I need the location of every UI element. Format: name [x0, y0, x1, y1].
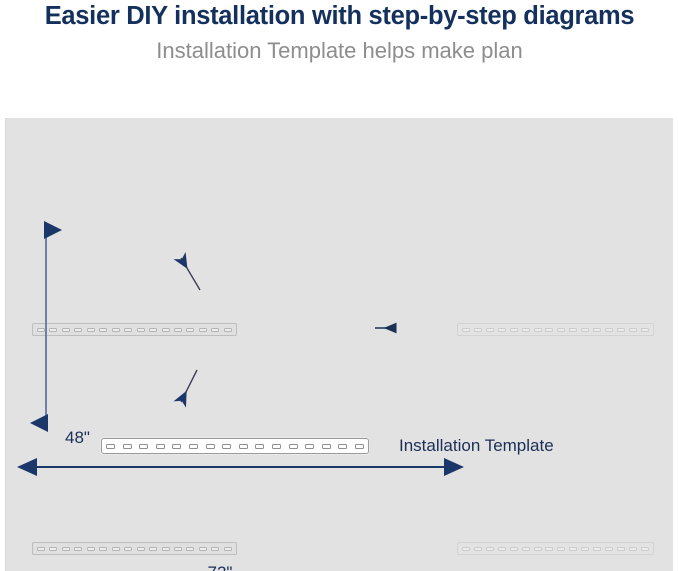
rail-slot [199, 547, 207, 551]
rail-slot [199, 328, 207, 332]
rail-slot [338, 444, 347, 449]
rail-slot [462, 547, 470, 551]
rail-slot [593, 547, 601, 551]
rail-slot [581, 547, 589, 551]
header-section: Easier DIY installation with step-by-ste… [0, 0, 679, 118]
rail-slot [224, 328, 232, 332]
rail-slot [629, 328, 637, 332]
rail-slot [186, 328, 194, 332]
rail-slot [37, 547, 45, 551]
rail-slot [605, 547, 613, 551]
rail-slot [581, 328, 589, 332]
rail-slot [156, 444, 165, 449]
template-pointer-arrow-upper [181, 258, 200, 290]
rail-slot [174, 328, 182, 332]
rail-slot [289, 444, 298, 449]
rail-slot [355, 444, 364, 449]
rail-slot [74, 547, 82, 551]
mounting-rail-bottom-left [32, 542, 237, 555]
installation-template-strip [101, 438, 369, 454]
rail-slot [137, 328, 145, 332]
rail-slot [305, 444, 314, 449]
rail-slot [641, 328, 649, 332]
rail-slot [172, 444, 181, 449]
rail-slot [498, 328, 506, 332]
rail-slot [569, 328, 577, 332]
rail-slot [37, 328, 45, 332]
rail-slot [557, 328, 565, 332]
rail-slot [139, 444, 148, 449]
rail-slot [49, 547, 57, 551]
rail-slot [62, 328, 70, 332]
rail-slot [605, 328, 613, 332]
rail-slot [149, 328, 157, 332]
dimension-arrows-layer [5, 118, 673, 571]
rail-slot [162, 547, 170, 551]
rail-slot [149, 547, 157, 551]
rail-slot [189, 444, 198, 449]
rail-slot [87, 328, 95, 332]
rail-slot [106, 444, 115, 449]
rail-slot [224, 547, 232, 551]
rail-slot [239, 444, 248, 449]
rail-slot [123, 444, 132, 449]
rail-slot [272, 444, 281, 449]
mounting-rail-top-right [457, 323, 654, 336]
rail-slot [222, 444, 231, 449]
rail-slot [557, 547, 565, 551]
rail-slot [522, 547, 530, 551]
rail-slot [87, 547, 95, 551]
rail-slot [462, 328, 470, 332]
rail-slot [486, 328, 494, 332]
rail-slot [522, 328, 530, 332]
rail-slot [474, 328, 482, 332]
page-subtitle: Installation Template helps make plan [0, 38, 679, 64]
rail-slot [174, 547, 182, 551]
rail-slot [498, 547, 506, 551]
rail-slot [617, 328, 625, 332]
rail-slot [211, 547, 219, 551]
rail-slot [629, 547, 637, 551]
rail-slot [99, 328, 107, 332]
rail-slot [545, 547, 553, 551]
rail-slot [49, 328, 57, 332]
width-dimension-label: 72" [5, 563, 435, 571]
rail-slot [593, 328, 601, 332]
rail-slot [206, 444, 215, 449]
mounting-rail-bottom-right [457, 542, 654, 555]
rail-slot [162, 328, 170, 332]
rail-slot [534, 328, 542, 332]
mounting-rail-top-left [32, 323, 237, 336]
rail-slot [186, 547, 194, 551]
rail-slot [545, 328, 553, 332]
rail-slot [322, 444, 331, 449]
rail-slot [211, 328, 219, 332]
rail-slot [617, 547, 625, 551]
rail-slot [99, 547, 107, 551]
rail-slot [137, 547, 145, 551]
height-dimension-label: 48" [65, 428, 90, 448]
rail-slot [74, 328, 82, 332]
rail-slot [510, 328, 518, 332]
rail-slot [62, 547, 70, 551]
page-title: Easier DIY installation with step-by-ste… [0, 2, 679, 31]
rail-slot [112, 547, 120, 551]
rail-slot [534, 547, 542, 551]
rail-slot [112, 328, 120, 332]
rail-slot [255, 444, 264, 449]
rail-slot [569, 547, 577, 551]
installation-template-callout-label: Installation Template [399, 436, 554, 456]
rail-slot [124, 547, 132, 551]
rail-slot [474, 547, 482, 551]
rail-slot [486, 547, 494, 551]
installation-diagram-panel: 48" 72" Installation Template [5, 118, 673, 571]
rail-slot [510, 547, 518, 551]
template-pointer-arrow-lower [181, 370, 197, 402]
rail-slot [124, 328, 132, 332]
rail-slot [641, 547, 649, 551]
